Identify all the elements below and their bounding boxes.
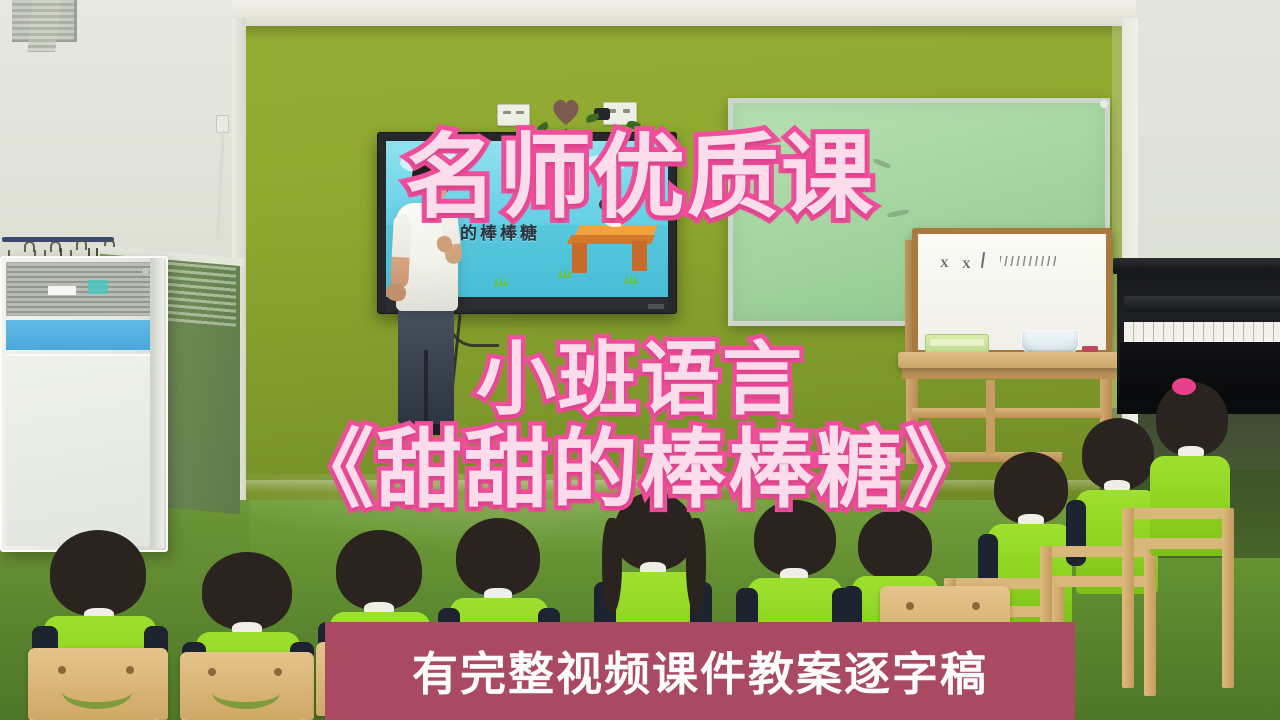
wall-shadow bbox=[236, 24, 1132, 40]
wall-frame-top bbox=[232, 0, 1136, 26]
ac-blue-band bbox=[6, 320, 156, 350]
ac-sensor-icon bbox=[142, 268, 149, 275]
air-conditioner bbox=[0, 256, 168, 552]
ceiling-vent-secondary-icon bbox=[27, 0, 60, 52]
whiteboard-scribble bbox=[1000, 256, 1056, 266]
whiteboard-mark: X bbox=[962, 257, 971, 272]
video-thumbnail: 甜甜的棒棒糖 X X bbox=[0, 0, 1280, 720]
cartoon-animal bbox=[602, 201, 628, 227]
ac-panel bbox=[6, 354, 156, 546]
ac-grille bbox=[6, 262, 158, 316]
table-shelf bbox=[912, 408, 1102, 418]
wooden-table bbox=[898, 352, 1120, 368]
ac-side-edge bbox=[150, 258, 164, 548]
ac-label bbox=[48, 286, 76, 295]
hair-tie-icon bbox=[1172, 378, 1196, 395]
wall-socket bbox=[497, 104, 530, 126]
bottom-banner-text: 有完整视频课件教案逐字稿 bbox=[412, 638, 988, 704]
classroom-photo: 甜甜的棒棒糖 X X bbox=[0, 0, 1280, 720]
bottom-banner: 有完整视频课件教案逐字稿 bbox=[325, 622, 1075, 720]
ac-display bbox=[88, 280, 108, 294]
smartboard-led-icon bbox=[648, 304, 664, 309]
table-divider bbox=[986, 380, 995, 454]
whiteboard-mark: X bbox=[940, 256, 949, 271]
piano-keys bbox=[1124, 322, 1280, 342]
